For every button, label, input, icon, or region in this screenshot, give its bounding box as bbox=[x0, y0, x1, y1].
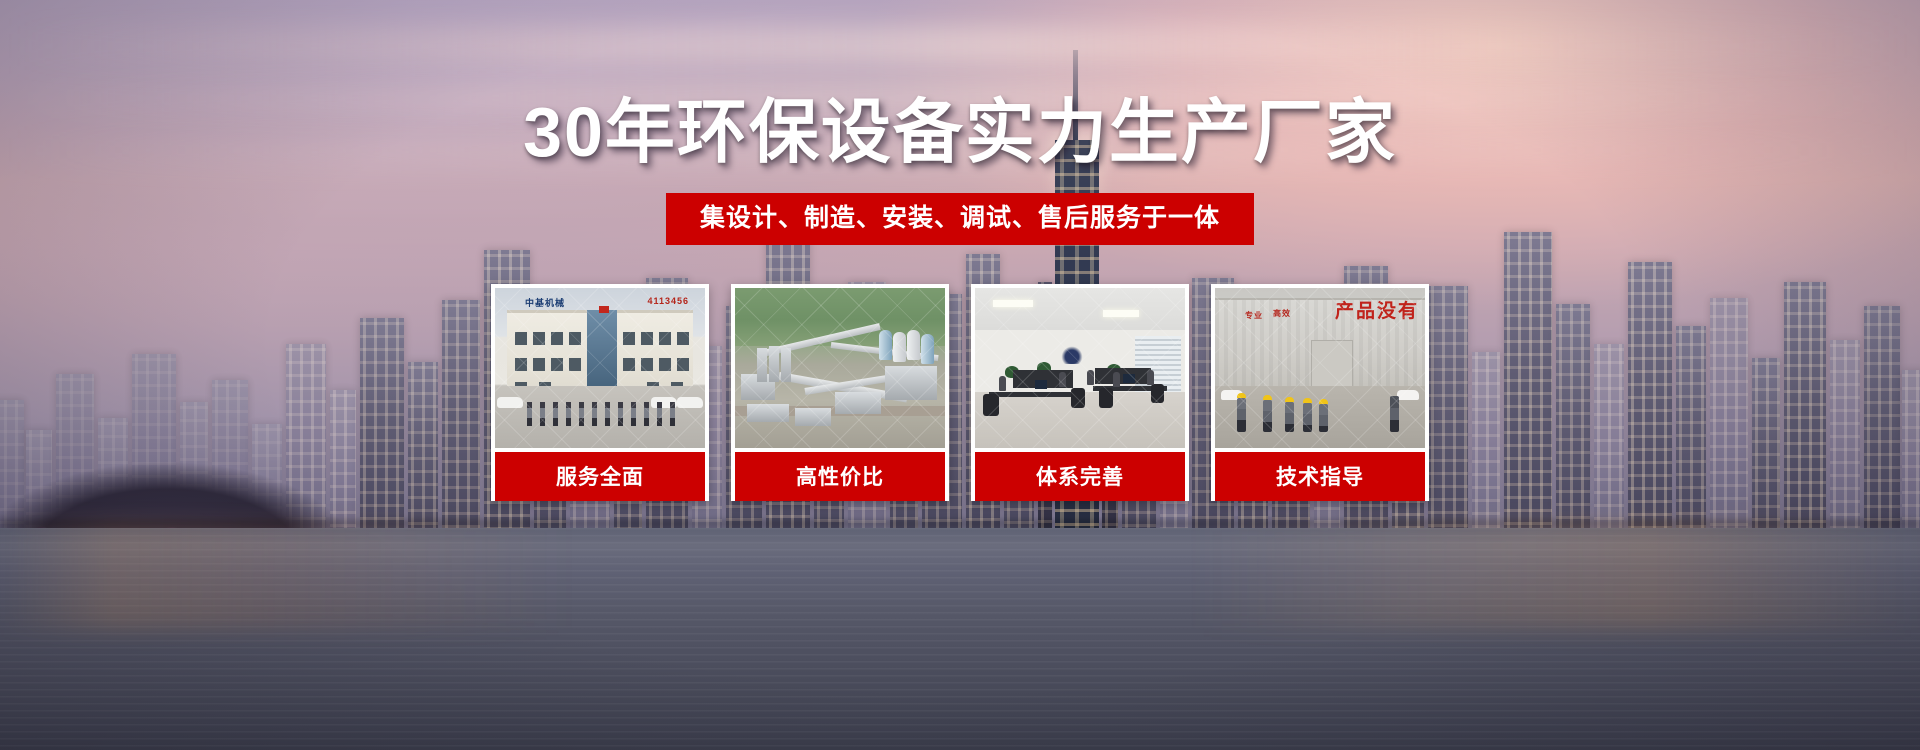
feature-card[interactable]: 高性价比 bbox=[731, 284, 949, 501]
feature-card[interactable]: 产品没有 专业 高效 技术指导 bbox=[1211, 284, 1429, 501]
page-title: 30年环保设备实力生产厂家 bbox=[0, 97, 1920, 167]
feature-card-caption: 技术指导 bbox=[1215, 452, 1425, 501]
building-sign-text: 中基机械 bbox=[525, 296, 565, 309]
hero-banner: 30年环保设备实力生产厂家 集设计、制造、安装、调试、售后服务于一体 中基机械 … bbox=[0, 0, 1920, 750]
feature-card-list: 中基机械 4113456 bbox=[491, 284, 1429, 501]
factory-wall-slogan-small-2: 高效 bbox=[1273, 308, 1291, 319]
factory-wall-slogan: 产品没有 bbox=[1335, 296, 1419, 323]
subtitle-banner: 集设计、制造、安装、调试、售后服务于一体 bbox=[666, 193, 1254, 245]
feature-card[interactable]: 体系完善 bbox=[971, 284, 1189, 501]
water-reflection-glow bbox=[0, 522, 1920, 630]
factory-workers-training-photo: 产品没有 专业 高效 bbox=[1215, 288, 1425, 448]
building-phone-text: 4113456 bbox=[647, 296, 689, 306]
office-interior-team-photo bbox=[975, 288, 1185, 448]
feature-card-caption: 体系完善 bbox=[975, 452, 1185, 501]
feature-card[interactable]: 中基机械 4113456 bbox=[491, 284, 709, 501]
feature-card-caption: 高性价比 bbox=[735, 452, 945, 501]
company-office-building-photo: 中基机械 4113456 bbox=[495, 288, 705, 448]
factory-wall-slogan-small-1: 专业 bbox=[1245, 310, 1263, 321]
feature-card-caption: 服务全面 bbox=[495, 452, 705, 501]
aerial-production-plant-photo bbox=[735, 288, 945, 448]
